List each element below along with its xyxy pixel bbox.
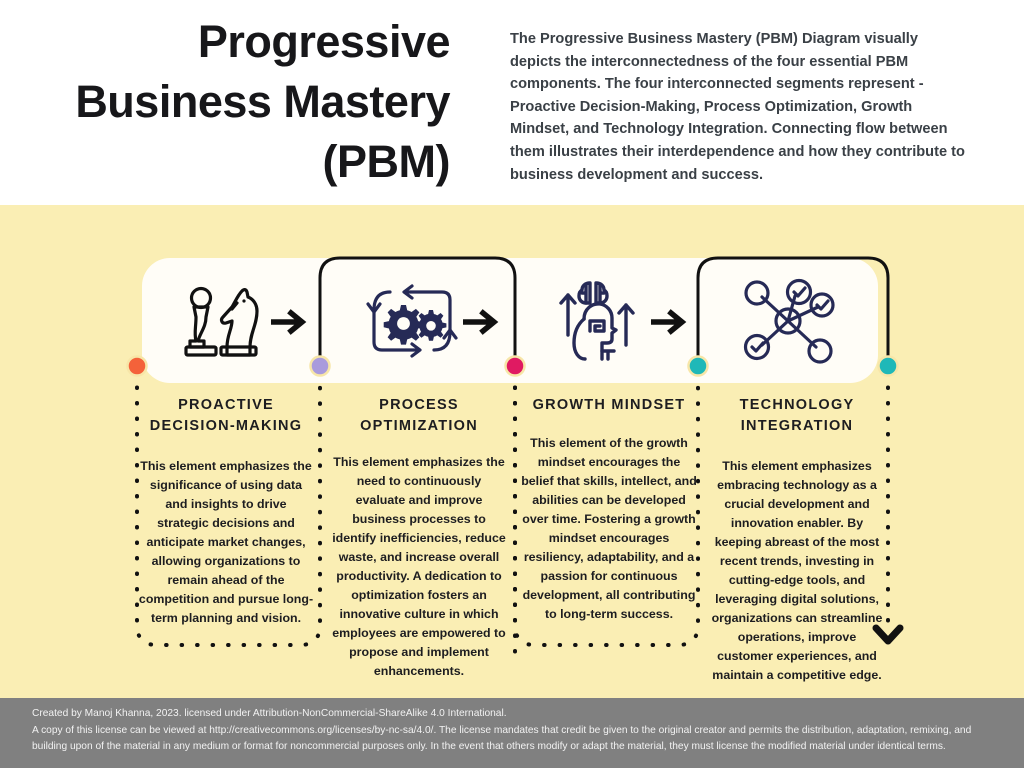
- gears-cycle-icon: [360, 280, 464, 362]
- icon-gears-cycle: [352, 272, 472, 370]
- arrow-right-icon: [271, 309, 309, 335]
- segment-body: This element emphasizes embracing techno…: [709, 457, 885, 685]
- chess-pieces-icon: [174, 277, 270, 365]
- page-title: Progressive Business Mastery (PBM): [60, 12, 450, 192]
- segment-title: PROACTIVE DECISION-MAKING: [138, 395, 314, 437]
- icon-chess-pieces: [162, 272, 282, 370]
- icon-network-nodes-check: [728, 272, 848, 370]
- brain-head-growth-icon: [552, 273, 648, 369]
- arrow-right-icon: [463, 309, 501, 335]
- segment-title: PROCESS OPTIMIZATION: [331, 395, 507, 437]
- segment-column-process-optimization: PROCESS OPTIMIZATION This element emphas…: [331, 395, 507, 681]
- intro-paragraph: The Progressive Business Mastery (PBM) D…: [510, 28, 965, 186]
- segment-column-technology-integration: TECHNOLOGY INTEGRATION This element emph…: [709, 395, 885, 685]
- segment-body: This element of the growth mindset encou…: [521, 434, 697, 624]
- segment-body: This element emphasizes the need to cont…: [331, 453, 507, 681]
- flow-arrow-1: [268, 305, 312, 339]
- license-line-1: Created by Manoj Khanna, 2023. licensed …: [32, 706, 992, 723]
- flow-arrow-3: [648, 305, 692, 339]
- segment-title: GROWTH MINDSET: [521, 395, 697, 416]
- segment-title: TECHNOLOGY INTEGRATION: [709, 395, 885, 437]
- flow-arrow-2: [460, 305, 504, 339]
- license-footer: Created by Manoj Khanna, 2023. licensed …: [0, 698, 1024, 768]
- license-text: Created by Manoj Khanna, 2023. licensed …: [32, 706, 992, 756]
- infographic-page: Progressive Business Mastery (PBM) The P…: [0, 0, 1024, 768]
- network-nodes-check-icon: [738, 275, 838, 367]
- segment-body: This element emphasizes the significance…: [138, 457, 314, 628]
- header-section: Progressive Business Mastery (PBM) The P…: [0, 0, 1024, 205]
- segment-column-proactive-decision-making: PROACTIVE DECISION-MAKING This element e…: [138, 395, 314, 628]
- license-line-2: A copy of this license can be viewed at …: [32, 725, 971, 753]
- arrow-right-icon: [651, 309, 689, 335]
- icon-brain-head-growth: [540, 272, 660, 370]
- gear-small: [416, 310, 447, 341]
- segment-column-growth-mindset: GROWTH MINDSET This element of the growt…: [521, 395, 697, 624]
